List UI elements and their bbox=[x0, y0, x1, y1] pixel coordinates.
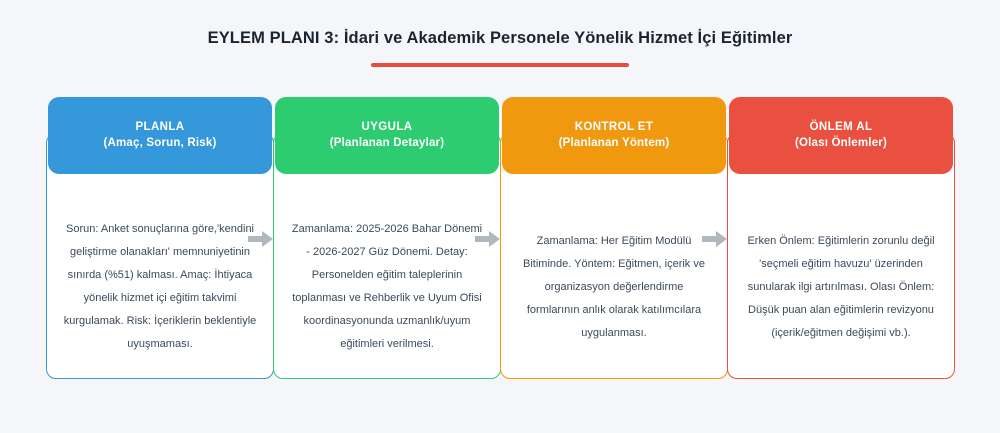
page-title: EYLEM PLANI 3: İdari ve Akademik Persone… bbox=[0, 28, 1000, 49]
page-title-block: EYLEM PLANI 3: İdari ve Akademik Persone… bbox=[0, 28, 1000, 67]
card-title-uygula: UYGULA bbox=[362, 120, 413, 136]
right-arrow-icon bbox=[702, 229, 728, 249]
card-header-kontrol-et: KONTROL ET (Planlanan Yöntem) bbox=[502, 97, 726, 174]
card-header-planla: PLANLA (Amaç, Sorun, Risk) bbox=[48, 97, 272, 174]
card-header-onlem-al: ÖNLEM AL (Olası Önlemler) bbox=[729, 97, 953, 174]
pdca-card-kontrol-et[interactable]: Zamanlama: Her Eğitim Modülü Bitiminde. … bbox=[500, 97, 728, 379]
card-body-text-kontrol-et: Zamanlama: Her Eğitim Modülü Bitiminde. … bbox=[501, 148, 727, 365]
pdca-card-planla[interactable]: Sorun: Anket sonuçlarına göre,'kendini g… bbox=[46, 97, 274, 379]
right-arrow-icon bbox=[475, 229, 501, 249]
card-subtitle-kontrol-et: (Planlanan Yöntem) bbox=[559, 136, 670, 152]
card-title-onlem-al: ÖNLEM AL bbox=[810, 120, 873, 136]
card-title-planla: PLANLA bbox=[135, 120, 184, 136]
diagram-page: EYLEM PLANI 3: İdari ve Akademik Persone… bbox=[0, 0, 1000, 433]
card-subtitle-planla: (Amaç, Sorun, Risk) bbox=[103, 136, 216, 152]
card-subtitle-onlem-al: (Olası Önlemler) bbox=[795, 136, 887, 152]
card-title-kontrol-et: KONTROL ET bbox=[575, 120, 654, 136]
pdca-card-row: Sorun: Anket sonuçlarına göre,'kendini g… bbox=[46, 97, 954, 379]
card-header-uygula: UYGULA (Planlanan Detaylar) bbox=[275, 97, 499, 174]
title-underline bbox=[371, 63, 629, 67]
right-arrow-icon bbox=[248, 229, 274, 249]
card-body-text-onlem-al: Erken Önlem: Eğitimlerin zorunlu değil '… bbox=[728, 148, 954, 365]
pdca-card-onlem-al[interactable]: Erken Önlem: Eğitimlerin zorunlu değil '… bbox=[727, 97, 955, 379]
pdca-card-uygula[interactable]: Zamanlama: 2025-2026 Bahar Dönemi - 2026… bbox=[273, 97, 501, 379]
card-subtitle-uygula: (Planlanan Detaylar) bbox=[330, 136, 445, 152]
